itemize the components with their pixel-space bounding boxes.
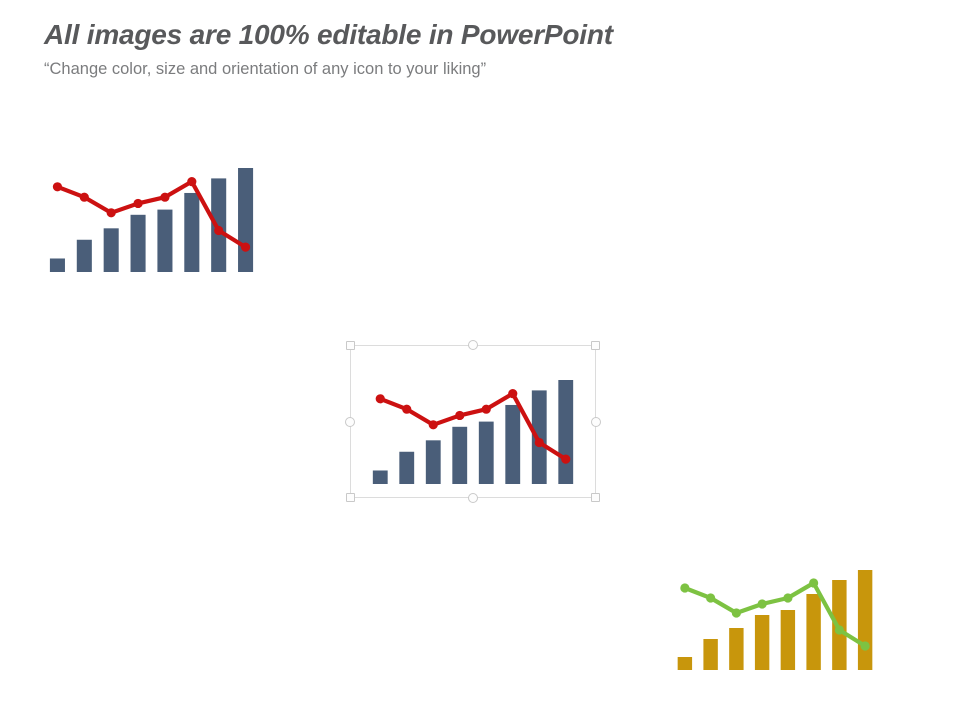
chart-line-marker <box>706 593 715 602</box>
chart-bar <box>131 215 146 272</box>
chart-icon-1-svg <box>44 160 259 272</box>
chart-line-marker <box>758 599 767 608</box>
handle-bottom-center[interactable] <box>468 493 478 503</box>
chart-line-marker <box>241 243 250 252</box>
chart-bar <box>184 193 199 272</box>
chart-bar <box>858 570 872 670</box>
chart-bar <box>678 657 692 670</box>
chart-bar <box>238 168 253 272</box>
selection-frame[interactable] <box>350 345 596 498</box>
chart-line-marker <box>861 641 870 650</box>
slide-header: All images are 100% editable in PowerPoi… <box>44 18 904 79</box>
chart-line-marker <box>53 182 62 191</box>
handle-top-right[interactable] <box>591 341 600 350</box>
chart-line-marker <box>160 193 169 202</box>
chart-line-marker <box>187 177 196 186</box>
bar-line-chart-icon-gold-green[interactable] <box>672 562 878 670</box>
page-title: All images are 100% editable in PowerPoi… <box>44 18 904 52</box>
chart-line-marker <box>133 199 142 208</box>
chart-line-marker <box>214 226 223 235</box>
handle-top-left[interactable] <box>346 341 355 350</box>
handle-bottom-left[interactable] <box>346 493 355 502</box>
chart-line-marker <box>107 208 116 217</box>
handle-bottom-right[interactable] <box>591 493 600 502</box>
chart-bar <box>806 594 820 670</box>
handle-middle-right[interactable] <box>591 417 601 427</box>
chart-line-marker <box>835 625 844 634</box>
chart-bar <box>157 210 172 272</box>
chart-bar <box>104 228 119 272</box>
handle-middle-left[interactable] <box>345 417 355 427</box>
chart-bar <box>703 639 717 670</box>
chart-line-marker <box>680 583 689 592</box>
slide-canvas: All images are 100% editable in PowerPoi… <box>0 0 960 720</box>
handle-top-center[interactable] <box>468 340 478 350</box>
chart-line-marker <box>732 608 741 617</box>
chart-bar <box>50 258 65 272</box>
chart-line-marker <box>809 578 818 587</box>
page-subtitle: “Change color, size and orientation of a… <box>44 59 904 79</box>
chart-bar <box>729 628 743 670</box>
bar-line-chart-icon-blue-red[interactable] <box>44 160 259 272</box>
chart-line-marker <box>80 193 89 202</box>
chart-line-marker <box>783 593 792 602</box>
chart-icon-3-svg <box>672 562 878 670</box>
chart-bar <box>755 615 769 670</box>
chart-bar <box>77 240 92 272</box>
chart-bar <box>781 610 795 670</box>
